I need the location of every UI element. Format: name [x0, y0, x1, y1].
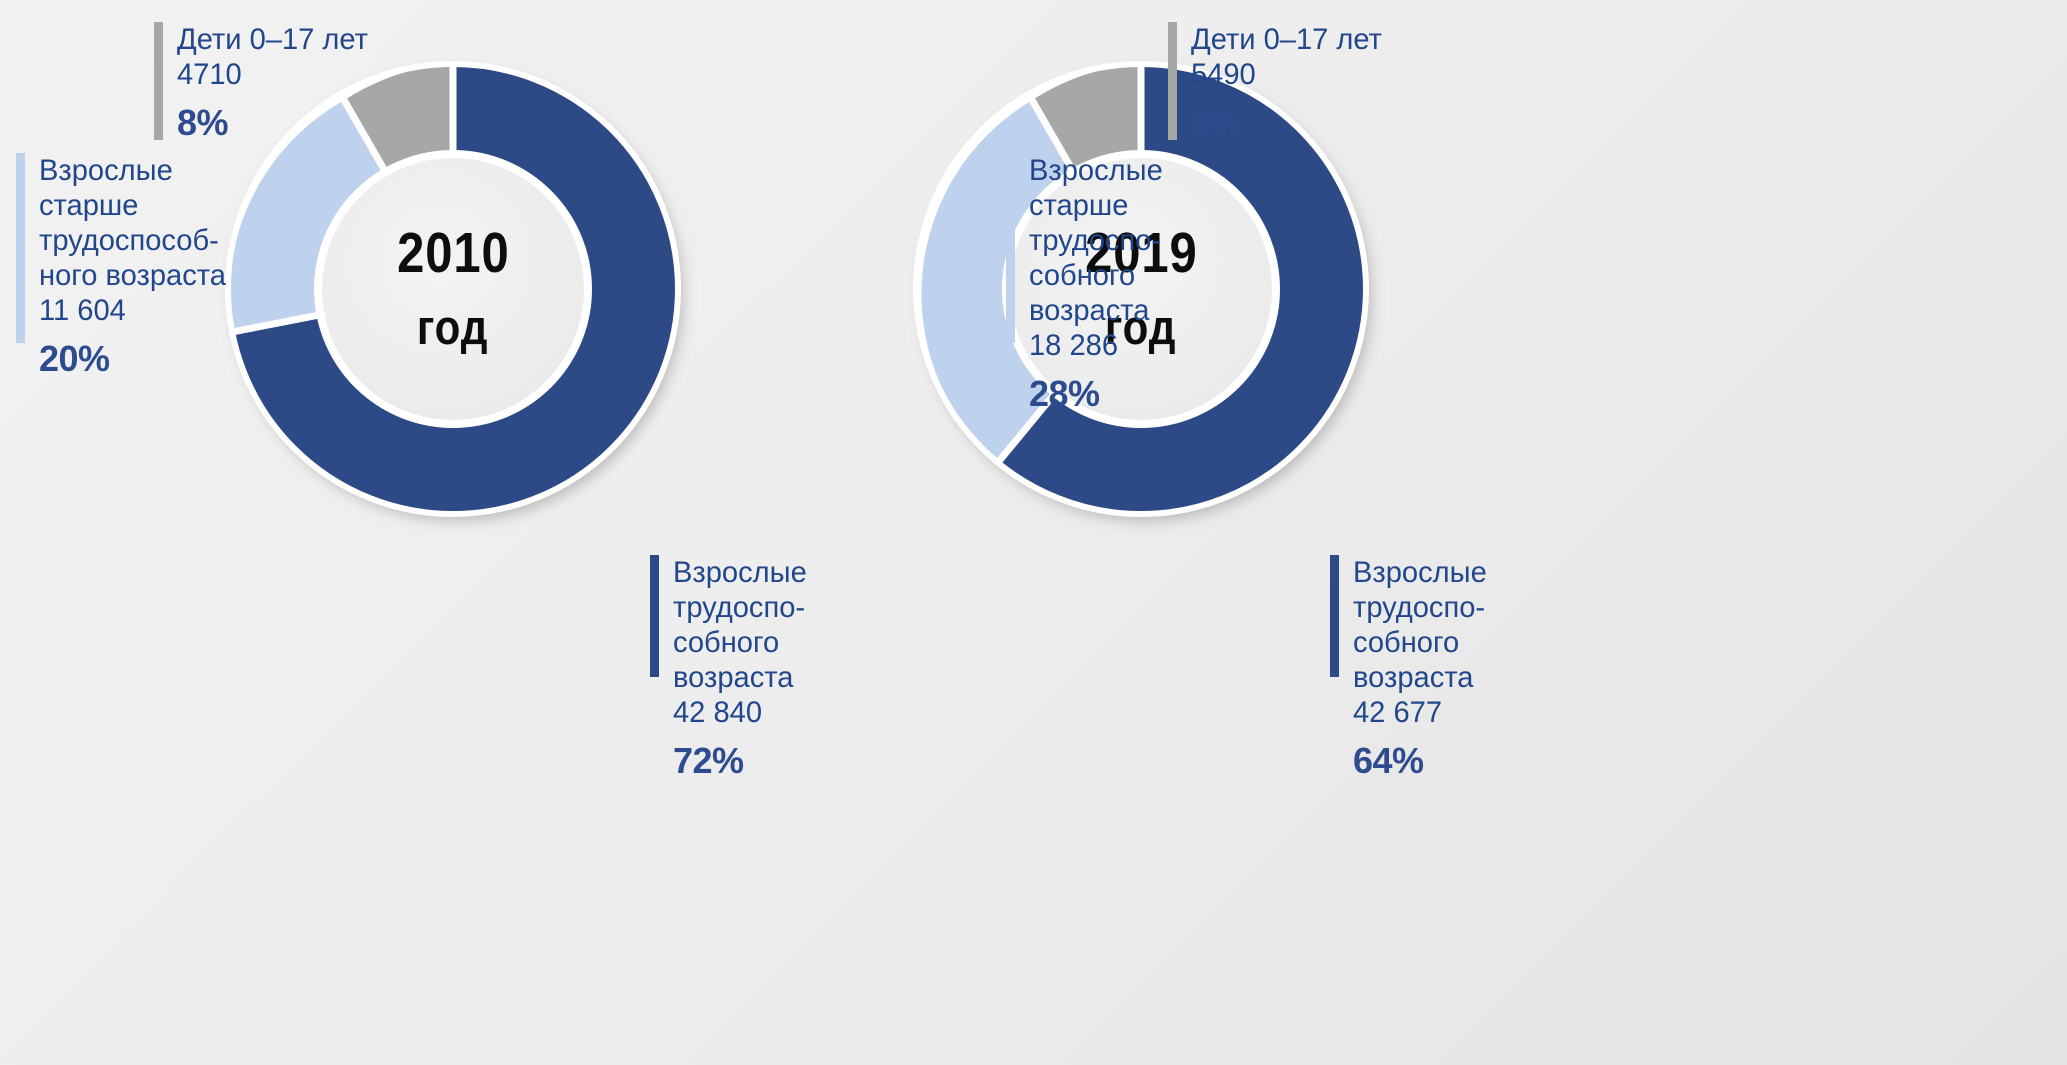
legend-line: Взрослые — [39, 153, 226, 188]
legend-marker-above-working-age — [1006, 153, 1015, 343]
legend-marker-working-age — [650, 555, 659, 677]
infographic-canvas: 2010 год Дети 0–17 лет 4710 8% Взрослые … — [0, 0, 2067, 1065]
legend-marker-working-age — [1330, 555, 1339, 677]
legend-children-2010[interactable]: Дети 0–17 лет 4710 8% — [154, 22, 374, 143]
legend-line: трудоспособ- — [39, 223, 226, 258]
legend-line: 42 840 — [673, 695, 807, 730]
legend-line: возраста — [1353, 660, 1487, 695]
legend-percent: 28% — [1029, 374, 1167, 414]
legend-line: ного возраста — [39, 258, 226, 293]
legend-line: трудоспо- — [673, 590, 807, 625]
legend-line: собного — [1029, 258, 1163, 293]
legend-line: собного — [1353, 625, 1487, 660]
legend-line: Дети 0–17 лет — [177, 22, 368, 57]
legend-line: Взрослые — [673, 555, 807, 590]
legend-line: Дети 0–17 лет — [1191, 22, 1382, 57]
legend-percent: 72% — [673, 741, 811, 781]
legend-line: возраста — [1029, 293, 1163, 328]
legend-above-working-age-2010[interactable]: Взрослые старше трудоспособ- ного возрас… — [16, 153, 232, 379]
legend-marker-children — [154, 22, 163, 140]
legend-percent: 20% — [39, 339, 232, 379]
legend-working-age-2010[interactable]: Взрослые трудоспо- собного возраста 42 8… — [650, 555, 811, 781]
legend-line: старше — [1029, 188, 1163, 223]
legend-line: старше — [39, 188, 226, 223]
legend-marker-children — [1168, 22, 1177, 140]
legend-line: собного — [673, 625, 807, 660]
legend-line: 42 677 — [1353, 695, 1487, 730]
legend-line: 18 286 — [1029, 328, 1163, 363]
legend-line: Взрослые — [1029, 153, 1163, 188]
legend-line: трудоспо- — [1029, 223, 1163, 258]
legend-line: Взрослые — [1353, 555, 1487, 590]
legend-line: 5490 — [1191, 57, 1382, 92]
legend-working-age-2019[interactable]: Взрослые трудоспо- собного возраста 42 6… — [1330, 555, 1491, 781]
legend-above-working-age-2019[interactable]: Взрослые старше трудоспо- собного возрас… — [1006, 153, 1167, 414]
legend-line: 4710 — [177, 57, 368, 92]
legend-percent: 8% — [1191, 103, 1388, 143]
legend-percent: 8% — [177, 103, 374, 143]
legend-line: трудоспо- — [1353, 590, 1487, 625]
legend-line: 11 604 — [39, 293, 226, 328]
legend-line: возраста — [673, 660, 807, 695]
legend-percent: 64% — [1353, 741, 1491, 781]
legend-children-2019[interactable]: Дети 0–17 лет 5490 8% — [1168, 22, 1388, 143]
legend-marker-above-working-age — [16, 153, 25, 343]
